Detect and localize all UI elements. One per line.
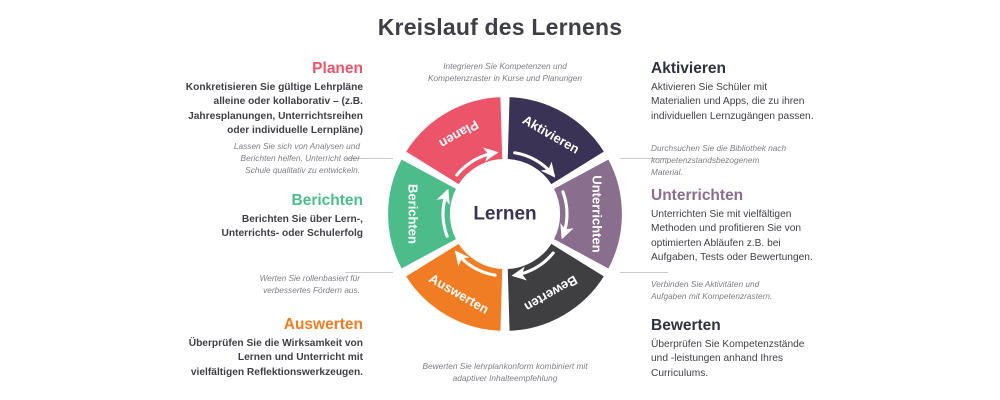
wheel-segment-label-unterrichten: Unterrichten [590,175,605,252]
note-bewerten: Verbinden Sie Aktivitäten und Aufgaben m… [651,278,851,302]
section-berichten: Berichten Berichten Sie über Lern-, Unte… [160,192,363,242]
section-unterrichten: Unterrichten Unterrichten Sie mit vielfä… [651,187,875,266]
section-aktivieren: Aktivieren Aktivieren Sie Schüler mit Ma… [651,60,871,124]
note-top: Integrieren Sie Kompetenzen und Kompeten… [405,60,605,84]
connector-line-bewerten [620,272,668,273]
section-auswerten-body: Überprüfen Sie die Wirksamkeit von Lerne… [148,337,363,380]
section-berichten-body: Berichten Sie über Lern-, Unterrichts- o… [160,213,363,242]
diagram-canvas: Kreislauf des Lernens Planen Konkretisie… [0,0,1000,400]
note-planen: Lassen Sie sich von Analysen und Bericht… [168,140,360,176]
note-bottom: Bewerten Sie lehrplankonform kombiniert … [398,360,612,384]
wheel-hub-label: Lernen [473,204,536,225]
section-bewerten: Bewerten Überprüfen Sie Kompetenzstände … [651,317,869,381]
section-planen: Planen Konkretisieren Sie gültige Lehrpl… [148,60,363,139]
note-aktivieren: Durchsuchen Sie die Bibliothek nach komp… [651,142,847,178]
section-aktivieren-body: Aktivieren Sie Schüler mit Materialien u… [651,81,871,124]
page-title: Kreislauf des Lernens [0,14,1000,41]
section-auswerten: Auswerten Überprüfen Sie die Wirksamkeit… [148,316,363,380]
wheel-segment-label-berichten: Berichten [406,184,421,244]
section-auswerten-heading: Auswerten [148,316,363,335]
section-bewerten-body: Überprüfen Sie Kompetenzstände und -leis… [651,338,869,381]
note-berichten: Werten Sie rollenbasiert für verbesserte… [180,272,360,296]
section-unterrichten-heading: Unterrichten [651,187,875,206]
learning-cycle-wheel: PlanenAktivierenUnterrichtenBewertenAusw… [388,88,622,340]
section-planen-heading: Planen [148,60,363,79]
section-berichten-heading: Berichten [160,192,363,211]
section-unterrichten-body: Unterrichten Sie mit vielfältigen Method… [651,208,875,266]
section-aktivieren-heading: Aktivieren [651,60,871,79]
section-planen-body: Konkretisieren Sie gültige Lehrpläne all… [148,81,363,139]
section-bewerten-heading: Bewerten [651,317,869,336]
